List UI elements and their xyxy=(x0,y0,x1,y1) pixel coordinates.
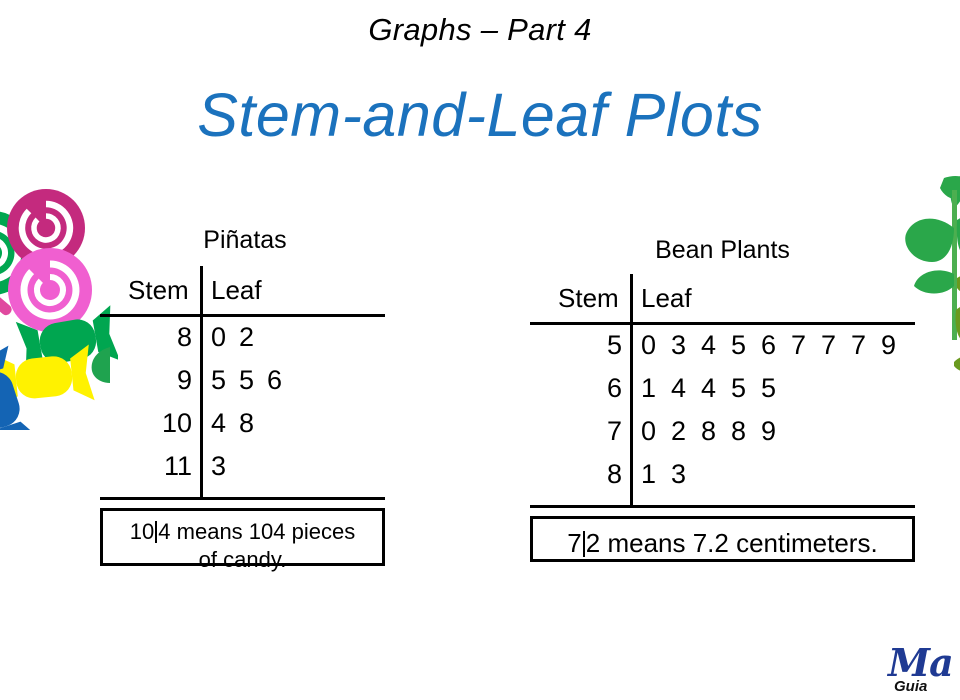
leaf-digit: 0 xyxy=(641,416,671,447)
brand-logo: Ma Guia xyxy=(882,638,960,700)
plot-title-pinatas: Piñatas xyxy=(100,226,390,255)
leaf-values: 13 xyxy=(641,459,701,490)
plot-top-rule-bean-plants xyxy=(530,322,915,325)
plot-top-rule-pinatas xyxy=(100,314,385,317)
leaf-values: 3 xyxy=(211,451,239,482)
plot-key-line2: of candy. xyxy=(103,546,382,574)
stray-leaf-icon xyxy=(90,345,112,385)
leaf-digit: 5 xyxy=(761,373,791,404)
leaf-digit: 8 xyxy=(701,416,731,447)
plot-header-stem-bean-plants: Stem xyxy=(558,283,619,314)
leaf-digit: 1 xyxy=(641,373,671,404)
slide-subtitle: Graphs – Part 4 xyxy=(0,12,960,48)
leaf-values: 48 xyxy=(211,408,267,439)
key-leaf: 4 xyxy=(158,519,170,544)
plot-header-leaf-pinatas: Leaf xyxy=(211,275,262,306)
leaf-digit: 4 xyxy=(701,373,731,404)
stem-value: 11 xyxy=(120,451,192,482)
key-stem: 10 xyxy=(130,519,154,544)
leaf-digit: 3 xyxy=(211,451,239,482)
leaf-values: 14455 xyxy=(641,373,791,404)
candy-lollipops-clipart xyxy=(0,180,118,430)
leaf-digit: 2 xyxy=(239,322,267,353)
leaf-digit: 8 xyxy=(239,408,267,439)
plot-header-stem-pinatas: Stem xyxy=(128,275,189,306)
leaf-digit: 5 xyxy=(731,330,761,361)
plot-key-line1: 104 means 104 pieces xyxy=(103,518,382,546)
leaf-digit: 6 xyxy=(761,330,791,361)
leaf-digit: 7 xyxy=(821,330,851,361)
plot-key-line1: 72 means 7.2 centimeters. xyxy=(533,527,912,560)
plot-divider-bean-plants xyxy=(630,274,633,508)
plot-bottom-rule-bean-plants xyxy=(530,505,915,508)
leaf-digit: 5 xyxy=(211,365,239,396)
slide-canvas: Graphs – Part 4 Stem-and-Leaf Plots xyxy=(0,0,960,700)
leaf-digit: 5 xyxy=(239,365,267,396)
stem-value: 7 xyxy=(550,416,622,447)
brand-logo-subtext: Guia xyxy=(894,678,927,695)
page-title: Stem-and-Leaf Plots xyxy=(0,80,960,150)
leaf-digit: 7 xyxy=(791,330,821,361)
leaf-digit: 0 xyxy=(211,322,239,353)
leaf-digit: 4 xyxy=(671,373,701,404)
plot-key-box-bean-plants: 72 means 7.2 centimeters. xyxy=(530,516,915,562)
plot-bottom-rule-pinatas xyxy=(100,497,385,500)
leaf-digit: 6 xyxy=(267,365,295,396)
leaf-digit: 8 xyxy=(731,416,761,447)
key-text: means 7.2 centimeters. xyxy=(600,528,877,558)
leaf-digit: 1 xyxy=(641,459,671,490)
key-leaf: 2 xyxy=(586,528,600,558)
leaf-digit: 4 xyxy=(701,330,731,361)
leaf-digit: 9 xyxy=(881,330,911,361)
plot-title-bean-plants: Bean Plants xyxy=(530,236,915,265)
leaf-digit: 5 xyxy=(731,373,761,404)
key-divider-bar xyxy=(583,531,585,557)
stem-value: 6 xyxy=(550,373,622,404)
leaf-digit: 4 xyxy=(211,408,239,439)
stem-value: 8 xyxy=(120,322,192,353)
leaf-digit: 0 xyxy=(641,330,671,361)
key-text: means 104 pieces xyxy=(171,519,356,544)
key-divider-bar xyxy=(155,521,157,543)
leaf-values: 02889 xyxy=(641,416,791,447)
plot-header-leaf-bean-plants: Leaf xyxy=(641,283,692,314)
leaf-values: 02 xyxy=(211,322,267,353)
leaf-digit: 3 xyxy=(671,459,701,490)
stem-value: 8 xyxy=(550,459,622,490)
plot-key-box-pinatas: 104 means 104 pieces of candy. xyxy=(100,508,385,566)
leaf-digit: 9 xyxy=(761,416,791,447)
key-stem: 7 xyxy=(567,528,581,558)
leaf-digit: 7 xyxy=(851,330,881,361)
leaf-digit: 3 xyxy=(671,330,701,361)
stem-value: 9 xyxy=(120,365,192,396)
plot-divider-pinatas xyxy=(200,266,203,500)
leaf-digit: 2 xyxy=(671,416,701,447)
leaf-values: 034567779 xyxy=(641,330,911,361)
leaf-values: 556 xyxy=(211,365,295,396)
stem-value: 10 xyxy=(120,408,192,439)
stem-value: 5 xyxy=(550,330,622,361)
